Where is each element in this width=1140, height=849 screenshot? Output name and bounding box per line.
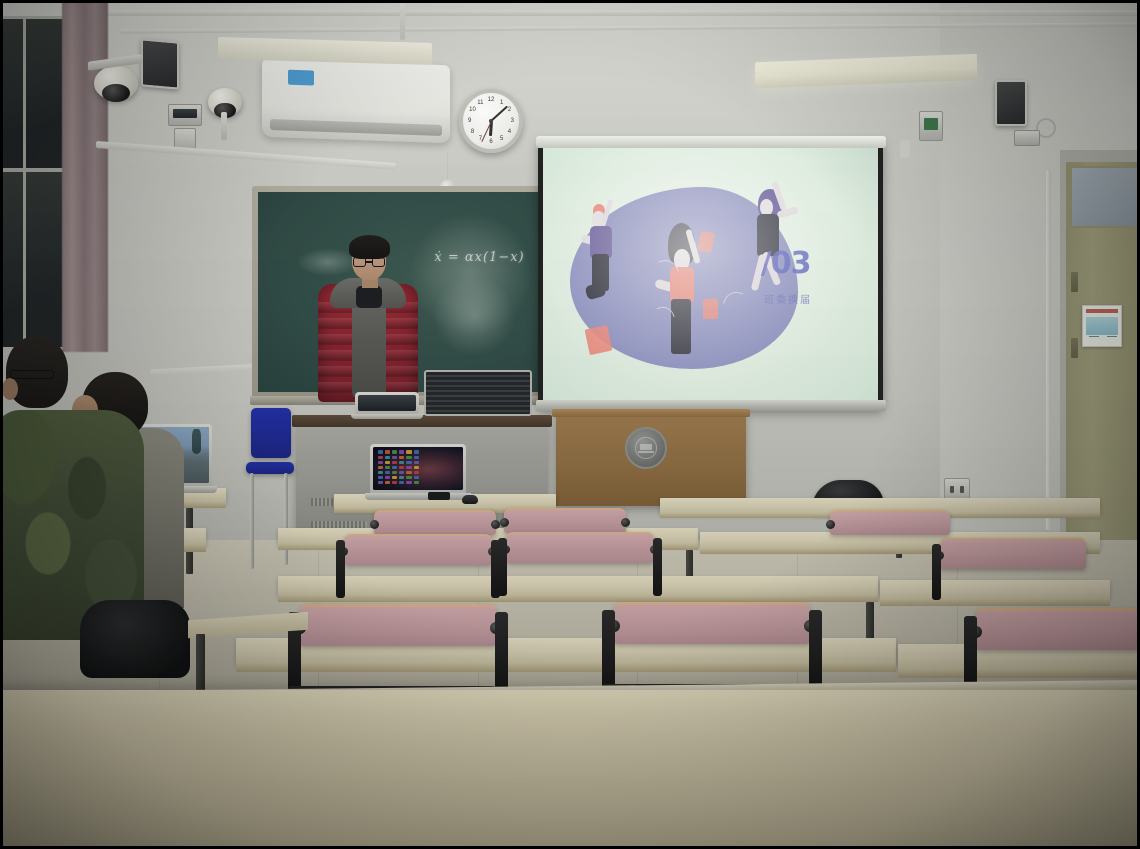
desk-row3 [278,576,878,596]
chair-row4-c[interactable] [976,608,1140,654]
wall-outlet[interactable] [944,478,970,500]
clock-numeral: 5 [500,136,503,142]
laptop-presenter[interactable] [355,392,419,418]
wall-phone [900,140,910,158]
camera-pole-right [221,112,227,140]
clock-minute-hand [490,106,508,122]
clock-numeral: 6 [489,139,492,145]
university-seal [625,427,667,469]
ceiling-pipe-horizontal-1 [90,10,1140,16]
clock-cord [447,152,448,182]
desk-row3-right [880,580,1110,600]
door-hinge-lower [1071,338,1078,358]
clock-center-pin [489,119,493,123]
chair-row3-a[interactable] [344,534,492,568]
clock-numeral: 3 [511,118,514,124]
ceiling-conduit [400,0,405,40]
clock-numeral: 11 [477,100,483,106]
wall-controller-right [919,111,943,141]
laptop-podium[interactable] [370,444,466,500]
clock-numeral: 12 [488,97,495,103]
chalkboard-equation: ẋ = αx(1−x) [434,250,524,265]
presenter-hair [349,235,390,259]
clock-numeral: 4 [508,129,511,135]
clock-numeral: 9 [468,118,471,124]
desk-row4-right-edge [898,669,1140,678]
mouse[interactable] [462,495,478,504]
door-notice-evacuation-map [1082,305,1122,347]
wall-clock: 12 1 2 3 4 5 6 7 8 9 10 11 [459,89,523,153]
phone[interactable] [428,492,450,500]
chair-row4-b[interactable] [614,602,810,648]
wall-speaker-right [995,80,1027,126]
clock-numeral: 10 [469,107,476,113]
chair-row3-b[interactable] [506,532,654,566]
clock-face: 12 1 2 3 4 5 6 7 8 9 10 11 [463,93,519,149]
blue-chair-leg-back [284,473,288,565]
classroom-scene: 12 1 2 3 4 5 6 7 8 9 10 11 ẋ = αx(1−x) [0,0,1140,849]
dome-camera-left [94,66,138,100]
wall-panel-right [1014,130,1040,146]
projector-device [424,370,532,416]
projector-screen-case [536,136,886,148]
blue-chair-leg-front [250,473,254,569]
door-hinge-upper [1071,272,1078,292]
projector-screen-surface: /03 班委换届 [543,145,878,405]
chair-row4-a[interactable] [300,604,496,650]
air-conditioner [262,59,450,144]
chair-row2-c[interactable] [830,510,950,538]
chair-row3-c[interactable] [940,538,1086,572]
desk-leg [196,634,205,698]
wall-speaker-left [141,38,179,89]
foreground-desk [0,690,1140,849]
wall-conduit-vertical [1046,170,1051,530]
student-camouflage-jacket-glasses [10,370,54,379]
clock-numeral: 1 [500,100,503,106]
ac-badge [288,70,314,86]
desk-row3-right-edge [880,599,1110,606]
desk-row4-edge [236,663,896,672]
projector-screen[interactable]: /03 班委换届 [538,140,883,410]
student-camouflage-jacket-ear [2,378,18,400]
desk-row3-edge [278,595,878,602]
podium-top-edge [552,409,750,417]
blue-chair-back[interactable] [251,408,291,458]
ac-vent [270,119,443,136]
presenter-glasses [353,257,385,267]
presenter-shirt [356,286,382,308]
clock-numeral: 2 [508,107,511,113]
wall-keypad [168,104,202,126]
student-dark-bag [80,600,190,678]
laptop-icon-grid [378,450,419,484]
door-transom-window [1070,166,1140,228]
curtain [62,0,108,352]
clock-numeral: 8 [471,129,474,135]
